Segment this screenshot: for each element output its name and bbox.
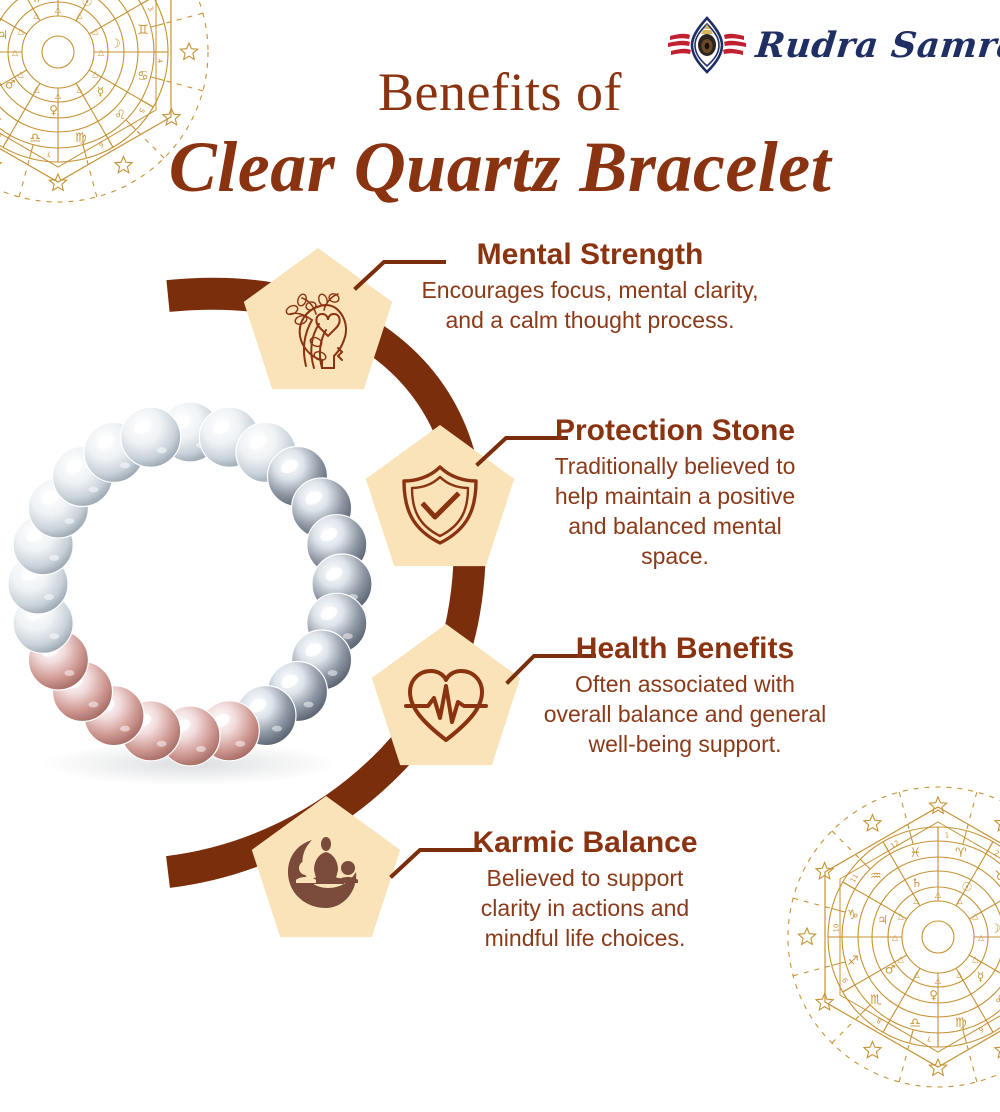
svg-text:♎: ♎	[909, 1016, 921, 1031]
benefit-body-line: and a calm thought process.	[404, 306, 776, 336]
benefit-body-line: mindful life choices.	[420, 924, 750, 954]
benefit-body: Believed to supportclarity in actions an…	[420, 864, 750, 954]
benefit-body-line: clarity in actions and	[420, 894, 750, 924]
benefit-body-line: well-being support.	[520, 730, 850, 760]
benefit-body-line: space.	[520, 542, 830, 572]
infographic-canvas: ♈♉♊♋♌♍♎♏♐♑♒♓☉☽☿♀♂♃♄△△△△△△△△△△△△123456789…	[0, 0, 1000, 1000]
benefit-block-health-benefits: Health Benefits Often associated withove…	[520, 632, 850, 760]
benefit-body-line: Believed to support	[420, 864, 750, 894]
benefit-block-karmic-balance: Karmic Balance Believed to supportclarit…	[420, 826, 750, 954]
benefit-body: Encourages focus, mental clarity,and a c…	[404, 276, 776, 336]
svg-text:♍: ♍	[955, 1016, 967, 1031]
benefit-block-mental-strength: Mental Strength Encourages focus, mental…	[404, 238, 776, 336]
svg-text:7: 7	[927, 1035, 931, 1043]
benefit-title: Mental Strength	[404, 238, 776, 271]
benefit-pentagon-protection-stone	[366, 425, 514, 566]
svg-text:8: 8	[875, 1016, 883, 1025]
benefit-pentagon-health-benefits	[372, 624, 520, 765]
benefit-title: Health Benefits	[520, 632, 850, 665]
benefit-title: Karmic Balance	[420, 826, 750, 859]
benefit-body-line: Often associated with	[520, 670, 850, 700]
benefit-body-line: help maintain a positive	[520, 482, 830, 512]
benefit-body-line: and balanced mental	[520, 512, 830, 542]
benefit-title: Protection Stone	[520, 414, 830, 447]
benefit-body-line: Traditionally believed to	[520, 452, 830, 482]
benefit-block-protection-stone: Protection Stone Traditionally believed …	[520, 414, 830, 572]
benefit-body-line: overall balance and general	[520, 700, 850, 730]
benefit-pentagon-karmic-balance	[252, 796, 400, 937]
benefit-pentagon-mental-strength	[244, 248, 392, 389]
benefit-body-line: Encourages focus, mental clarity,	[404, 276, 776, 306]
benefit-body: Traditionally believed tohelp maintain a…	[520, 452, 830, 572]
svg-text:6: 6	[977, 1025, 985, 1034]
benefit-body: Often associated withoverall balance and…	[520, 670, 850, 760]
